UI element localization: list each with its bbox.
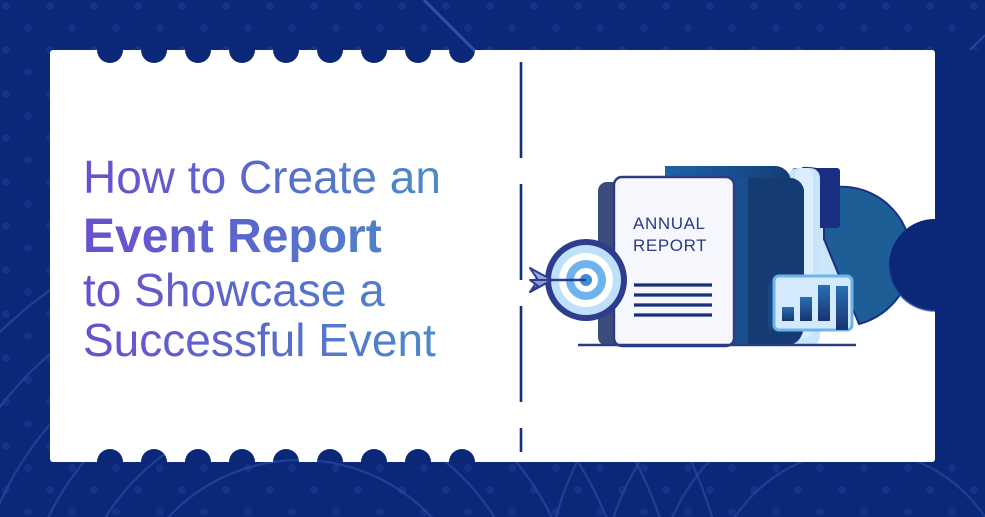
headline-line-2: Event Report: [83, 210, 382, 263]
bar-2: [800, 297, 812, 321]
headline-line-3: to Showcase a: [83, 264, 385, 316]
report-title-line-2: REPORT: [633, 236, 707, 255]
report-title-line-1: ANNUAL: [633, 214, 706, 233]
bar-1: [782, 307, 794, 321]
ticket-right-gutter: [935, 50, 985, 462]
bar-chart-card: [768, 276, 852, 330]
headline-line-1: How to Create an: [83, 151, 441, 203]
bar-3: [818, 285, 830, 321]
headline-line-4: Successful Event: [83, 314, 436, 366]
banner-root: How to Create an Event Report to Showcas…: [0, 0, 985, 517]
annual-report-page: [614, 177, 734, 346]
bar-4: [836, 286, 848, 330]
